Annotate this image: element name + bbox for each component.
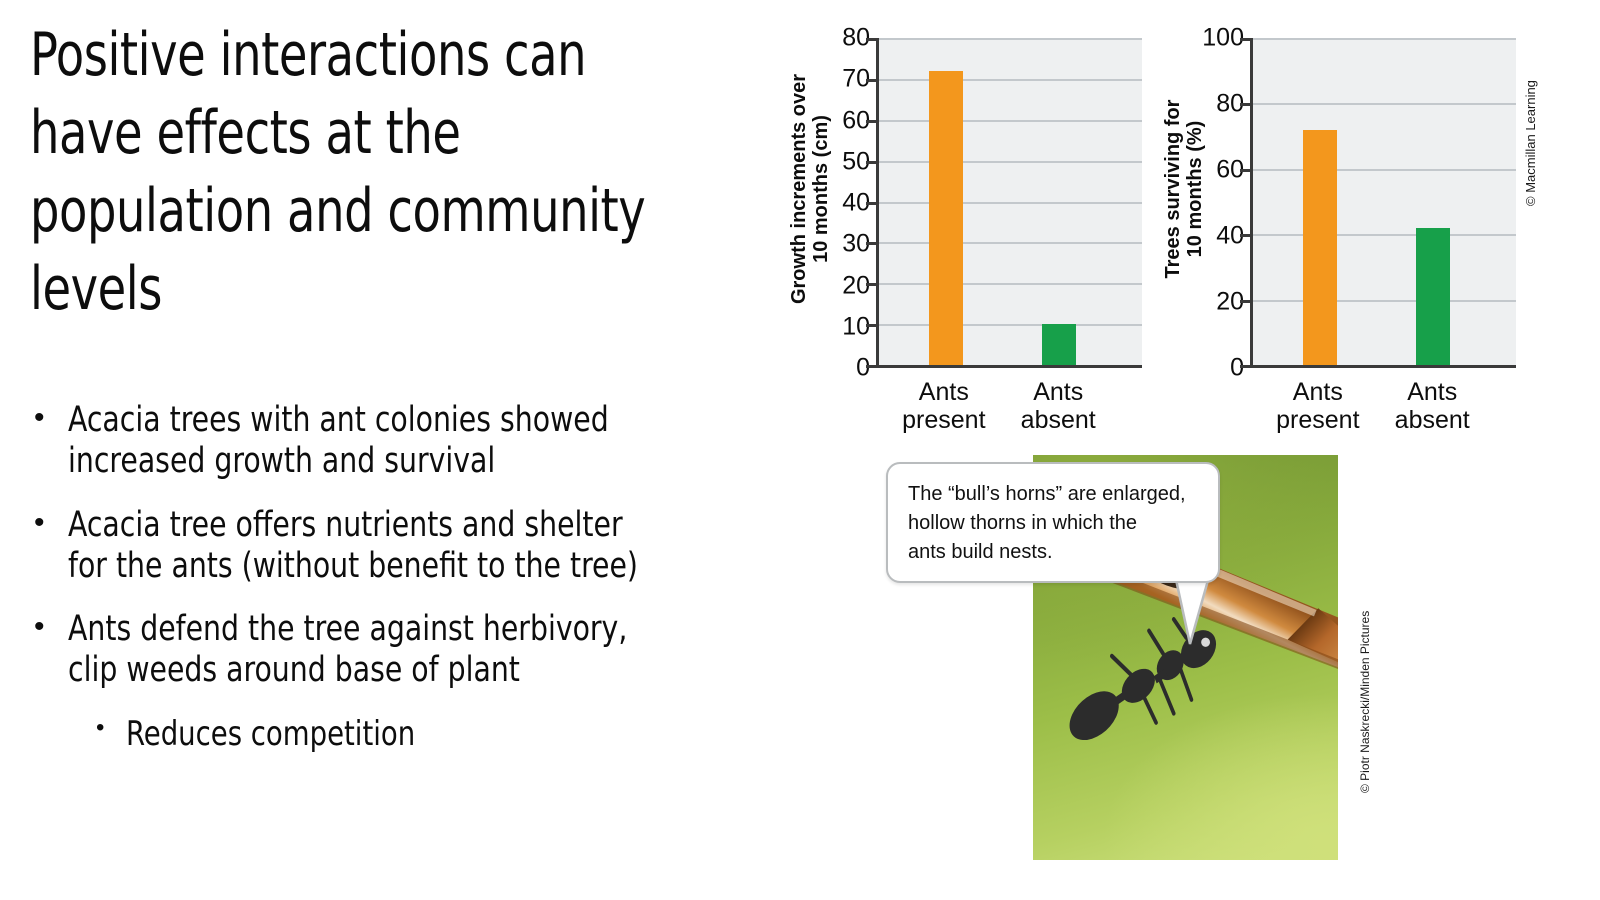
chart-survival-plot: 020406080100 — [1250, 38, 1516, 368]
chart-growth-gridline — [879, 120, 1142, 122]
list-item-text: Reduces competition — [126, 714, 415, 754]
chart-survival-bar — [1416, 228, 1450, 365]
callout-box: The “bull’s horns” are enlarged, hollow … — [886, 462, 1220, 583]
chart-survival-y-tick-label: 100 — [1202, 26, 1244, 51]
chart-survival-x-labels: Ants presentAnts absent — [1250, 374, 1516, 444]
bullet-marker-icon: • — [34, 505, 68, 540]
chart-growth-x-label: Ants present — [902, 378, 985, 434]
chart-survival-y-ticks: 020406080100 — [1188, 38, 1244, 368]
chart-survival-plot-area — [1250, 38, 1516, 368]
chart-growth-y-ticks: 01020304050607080 — [814, 38, 870, 368]
chart-survival-y-tick-mark — [1240, 103, 1253, 106]
chart-growth-plot: 01020304050607080 — [876, 38, 1142, 368]
chart-growth-y-tick-mark — [866, 38, 879, 41]
chart-growth-gridline — [879, 202, 1142, 204]
chart-growth-x-labels: Ants presentAnts absent — [876, 374, 1142, 444]
chart-growth-x-label: Ants absent — [1021, 378, 1096, 434]
chart-growth-plot-area — [876, 38, 1142, 368]
chart-growth-y-tick-mark — [866, 202, 879, 205]
chart-survival-gridline — [1253, 234, 1516, 236]
list-item-text: Acacia trees with ant colonies showed in… — [68, 400, 609, 483]
photo-credit-label: © Piotr Naskrecki/Minden Pictures — [1358, 611, 1372, 793]
chart-growth-y-tick-mark — [866, 120, 879, 123]
page-title: Positive interactions can have effects a… — [30, 16, 649, 328]
chart-growth-y-tick-mark — [866, 324, 879, 327]
chart-survival-x-label: Ants present — [1276, 378, 1359, 434]
chart-growth-gridline — [879, 161, 1142, 163]
list-item-text: Ants defend the tree against herbivory, … — [68, 609, 627, 692]
bullet-marker-icon: • — [96, 714, 126, 742]
chart-survival-y-tick-mark — [1240, 234, 1253, 237]
chart-growth-bar — [1042, 324, 1076, 365]
chart-survival-gridline — [1253, 103, 1516, 105]
bullet-marker-icon: • — [34, 400, 68, 435]
chart-growth-y-tick-label: 0 — [856, 356, 870, 381]
list-item-text: Acacia tree offers nutrients and shelter… — [68, 505, 638, 588]
chart-growth-y-tick-mark — [866, 161, 879, 164]
chart-survival-y-tick-mark — [1240, 300, 1253, 303]
chart-survival-y-tick-mark — [1240, 365, 1253, 368]
chart-survival-bar — [1303, 130, 1337, 365]
chart-growth-bar — [929, 71, 963, 365]
chart-trees-surviving: Trees surviving for 10 months (%) 020406… — [1162, 24, 1522, 434]
list-item: •Reduces competition — [96, 714, 874, 754]
chart-growth-y-tick-mark — [866, 79, 879, 82]
chart-growth-gridline — [879, 79, 1142, 81]
chart-survival-y-tick-label: 0 — [1230, 356, 1244, 381]
chart-growth-gridline — [879, 324, 1142, 326]
chart-growth-gridline — [879, 38, 1142, 40]
chart-survival-gridline — [1253, 300, 1516, 302]
chart-credit-label: © Macmillan Learning — [1523, 80, 1538, 206]
bullet-marker-icon: • — [34, 609, 68, 644]
list-item: •Ants defend the tree against herbivory,… — [34, 609, 874, 692]
chart-growth-gridline — [879, 242, 1142, 244]
callout-text: The “bull’s horns” are enlarged, hollow … — [908, 480, 1202, 567]
chart-growth-y-tick-mark — [866, 365, 879, 368]
bullet-list: •Acacia trees with ant colonies showed i… — [34, 400, 874, 776]
chart-survival-x-label: Ants absent — [1395, 378, 1470, 434]
chart-growth-increments: Growth increments over 10 months (cm) 01… — [788, 24, 1148, 434]
chart-survival-gridline — [1253, 169, 1516, 171]
chart-growth-y-tick-mark — [866, 242, 879, 245]
chart-survival-gridline — [1253, 38, 1516, 40]
chart-growth-y-tick-mark — [866, 283, 879, 286]
chart-growth-gridline — [879, 283, 1142, 285]
list-item: •Acacia trees with ant colonies showed i… — [34, 400, 874, 483]
chart-survival-y-tick-mark — [1240, 38, 1253, 41]
chart-survival-y-tick-mark — [1240, 169, 1253, 172]
list-item: •Acacia tree offers nutrients and shelte… — [34, 505, 874, 588]
